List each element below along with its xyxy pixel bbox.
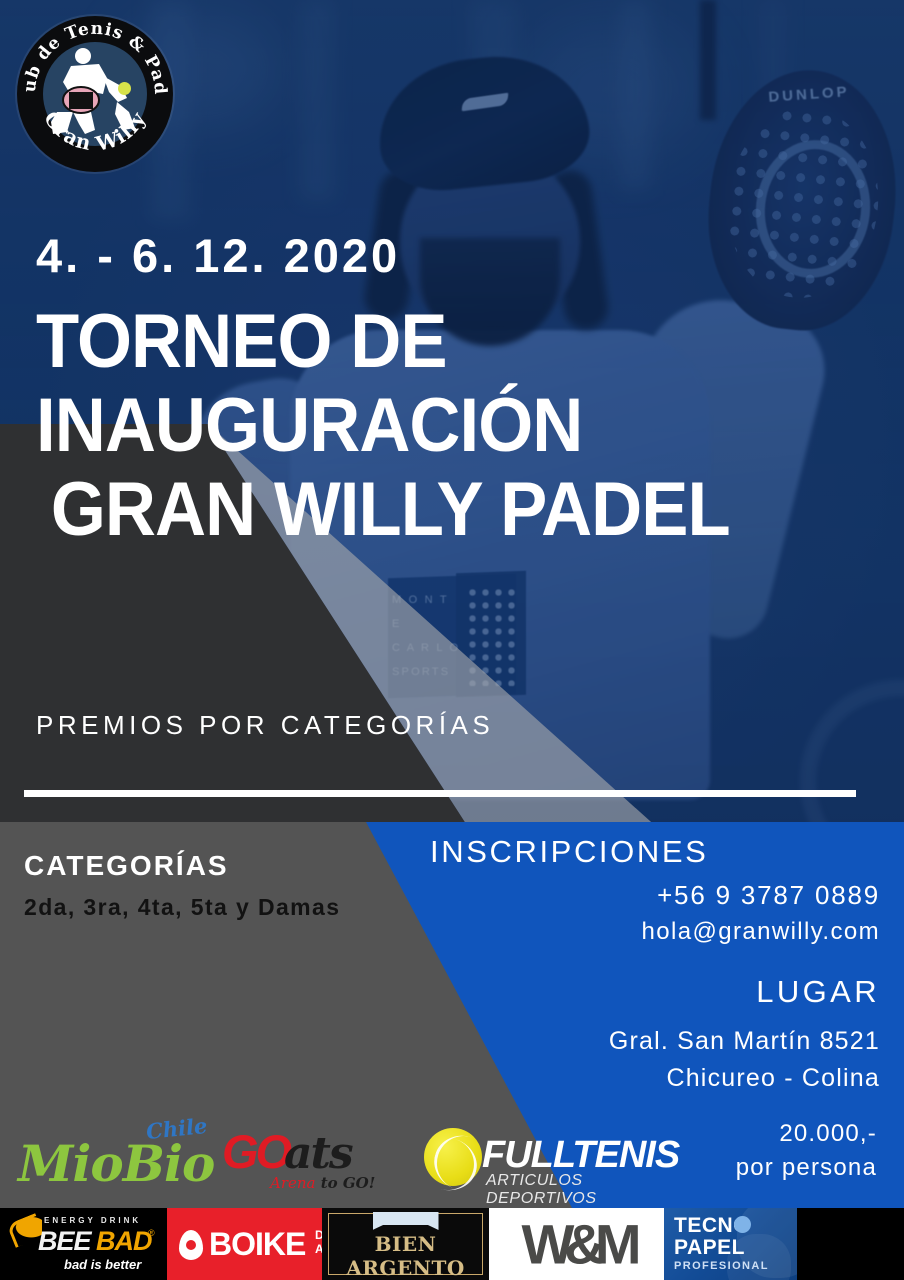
sponsor-fulltenis-logo: FULLTENIS ARTICULOS DEPORTIVOS (424, 1122, 654, 1192)
fulltenis-subtitle: ARTICULOS DEPORTIVOS (486, 1172, 654, 1208)
sponsor-goats-logo: GO ats Arena to GO! (222, 1118, 382, 1198)
inscriptions-email[interactable]: hola@granwilly.com (0, 918, 880, 946)
inscriptions-phone[interactable]: +56 9 3787 0889 (0, 880, 880, 911)
hero-section: 4. - 6. 12. 2020 TORNEO DE INAUGURACIÓN … (0, 0, 904, 830)
title-line-1: TORNEO DE (36, 299, 447, 384)
divider-rule (24, 790, 856, 797)
boike-subtitle: DE LOSANDES (315, 1228, 322, 1256)
sponsor-row: Chile MioBio GO ats Arena to GO! FULLTEN… (0, 1110, 904, 1210)
argento-name-label: BIEN ARGENTO (322, 1232, 489, 1280)
goats-tagline: Arena to GO! (270, 1174, 375, 1192)
boike-sub-line-2: ANDES (315, 1242, 322, 1256)
tecno-line-3: PROFESIONAL (674, 1260, 769, 1272)
beebad-tagline: bad is better (64, 1257, 141, 1272)
tecno-dot-icon (734, 1216, 751, 1233)
page-title: TORNEO DE INAUGURACIÓN GRAN WILLY PADEL (36, 300, 817, 552)
wm-monogram-label: W&M (522, 1212, 632, 1277)
venue-heading: LUGAR (0, 974, 880, 1010)
droplet-icon (179, 1230, 203, 1260)
tecno-line-2: PAPEL (674, 1236, 745, 1260)
beebad-registered-mark: ® (148, 1228, 155, 1238)
categories-heading: CATEGORÍAS (24, 850, 229, 882)
venue-address-line-2: Chicureo - Colina (0, 1064, 880, 1093)
sponsor-boike: BOIKE DE LOSANDES (167, 1208, 322, 1280)
sponsor-strip: ENERGY DRINK BEE BAD ® bad is better BOI… (0, 1208, 904, 1280)
beebad-part-1: BEE (38, 1226, 91, 1257)
goats-ats-label: ats (284, 1128, 352, 1179)
title-line-3: GRAN WILLY PADEL (36, 468, 817, 552)
boike-name-label: BOIKE (209, 1226, 305, 1263)
goats-tagline-b: to GO! (315, 1174, 375, 1192)
beebad-part-2: BAD (96, 1226, 152, 1257)
miobio-name-label: MioBio (18, 1134, 214, 1193)
sponsor-beebad: ENERGY DRINK BEE BAD ® bad is better (0, 1208, 167, 1280)
sponsor-blank-black-panel (797, 1208, 904, 1280)
sponsor-tecnopapel: TECNO PAPEL PROFESIONAL (664, 1208, 797, 1280)
venue-address-line-1: Gral. San Martín 8521 (0, 1027, 880, 1056)
tournament-poster: D D M O N T EC A R L OSPORTS DUNLOP (0, 0, 904, 1280)
sponsor-w-and-m: W&M (489, 1208, 664, 1280)
tennis-ball-icon (424, 1128, 482, 1186)
fulltenis-name-label: FULLTENIS (482, 1134, 679, 1177)
beebad-eyebrow: ENERGY DRINK (44, 1216, 141, 1225)
title-line-2: INAUGURACIÓN (36, 383, 582, 468)
bee-icon (6, 1216, 42, 1244)
inscriptions-heading: INSCRIPCIONES (430, 834, 708, 870)
event-date: 4. - 6. 12. 2020 (36, 228, 400, 283)
boike-sub-line-1: DE LOS (315, 1228, 322, 1242)
prizes-tagline: PREMIOS POR CATEGORÍAS (36, 710, 494, 741)
goats-go-label: GO (222, 1124, 289, 1179)
sponsor-miobio-logo: Chile MioBio (18, 1116, 208, 1196)
goats-tagline-a: Arena (270, 1174, 315, 1192)
sponsor-bien-argento: BIEN ARGENTO (322, 1208, 489, 1280)
